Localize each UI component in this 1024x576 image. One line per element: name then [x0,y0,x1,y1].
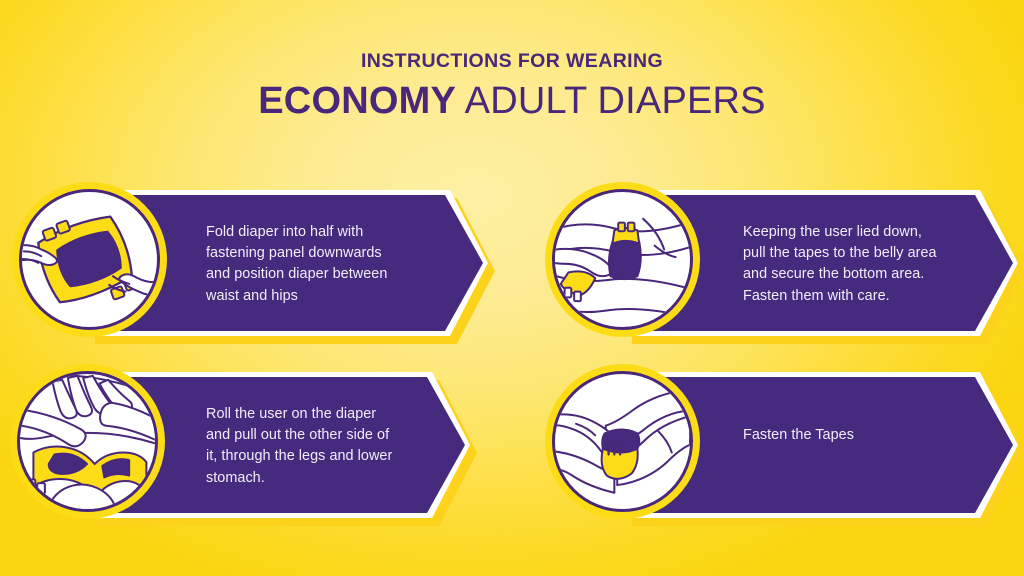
step-illustration-circle-4 [545,364,700,519]
pulling-tapes-to-belly-icon [552,189,693,330]
step-text-1: Fold diaper into half with fastening pan… [206,222,436,307]
rolling-user-on-diaper-icon [17,371,158,512]
page-title: INSTRUCTIONS FOR WEARING ECONOMY ADULT D… [0,52,1024,122]
step-text-2: Keeping the user lied down, pull the tap… [743,222,988,307]
title-headline-emphasis: ECONOMY [258,80,456,122]
step-illustration-circle-1 [12,182,167,337]
step-illustration-circle-2 [545,182,700,337]
folding-diaper-two-hands-icon [19,189,160,330]
title-kicker: INSTRUCTIONS FOR WEARING [0,52,1024,72]
fastening-tapes-icon [552,371,693,512]
title-headline: ECONOMY ADULT DIAPERS [0,81,1024,122]
step-text-3: Roll the user on the diaper and pull out… [206,404,436,489]
title-headline-rest: ADULT DIAPERS [456,80,766,122]
infographic-canvas: INSTRUCTIONS FOR WEARING ECONOMY ADULT D… [0,0,1024,576]
step-text-4: Fasten the Tapes [743,425,988,446]
step-illustration-circle-3 [10,364,165,519]
